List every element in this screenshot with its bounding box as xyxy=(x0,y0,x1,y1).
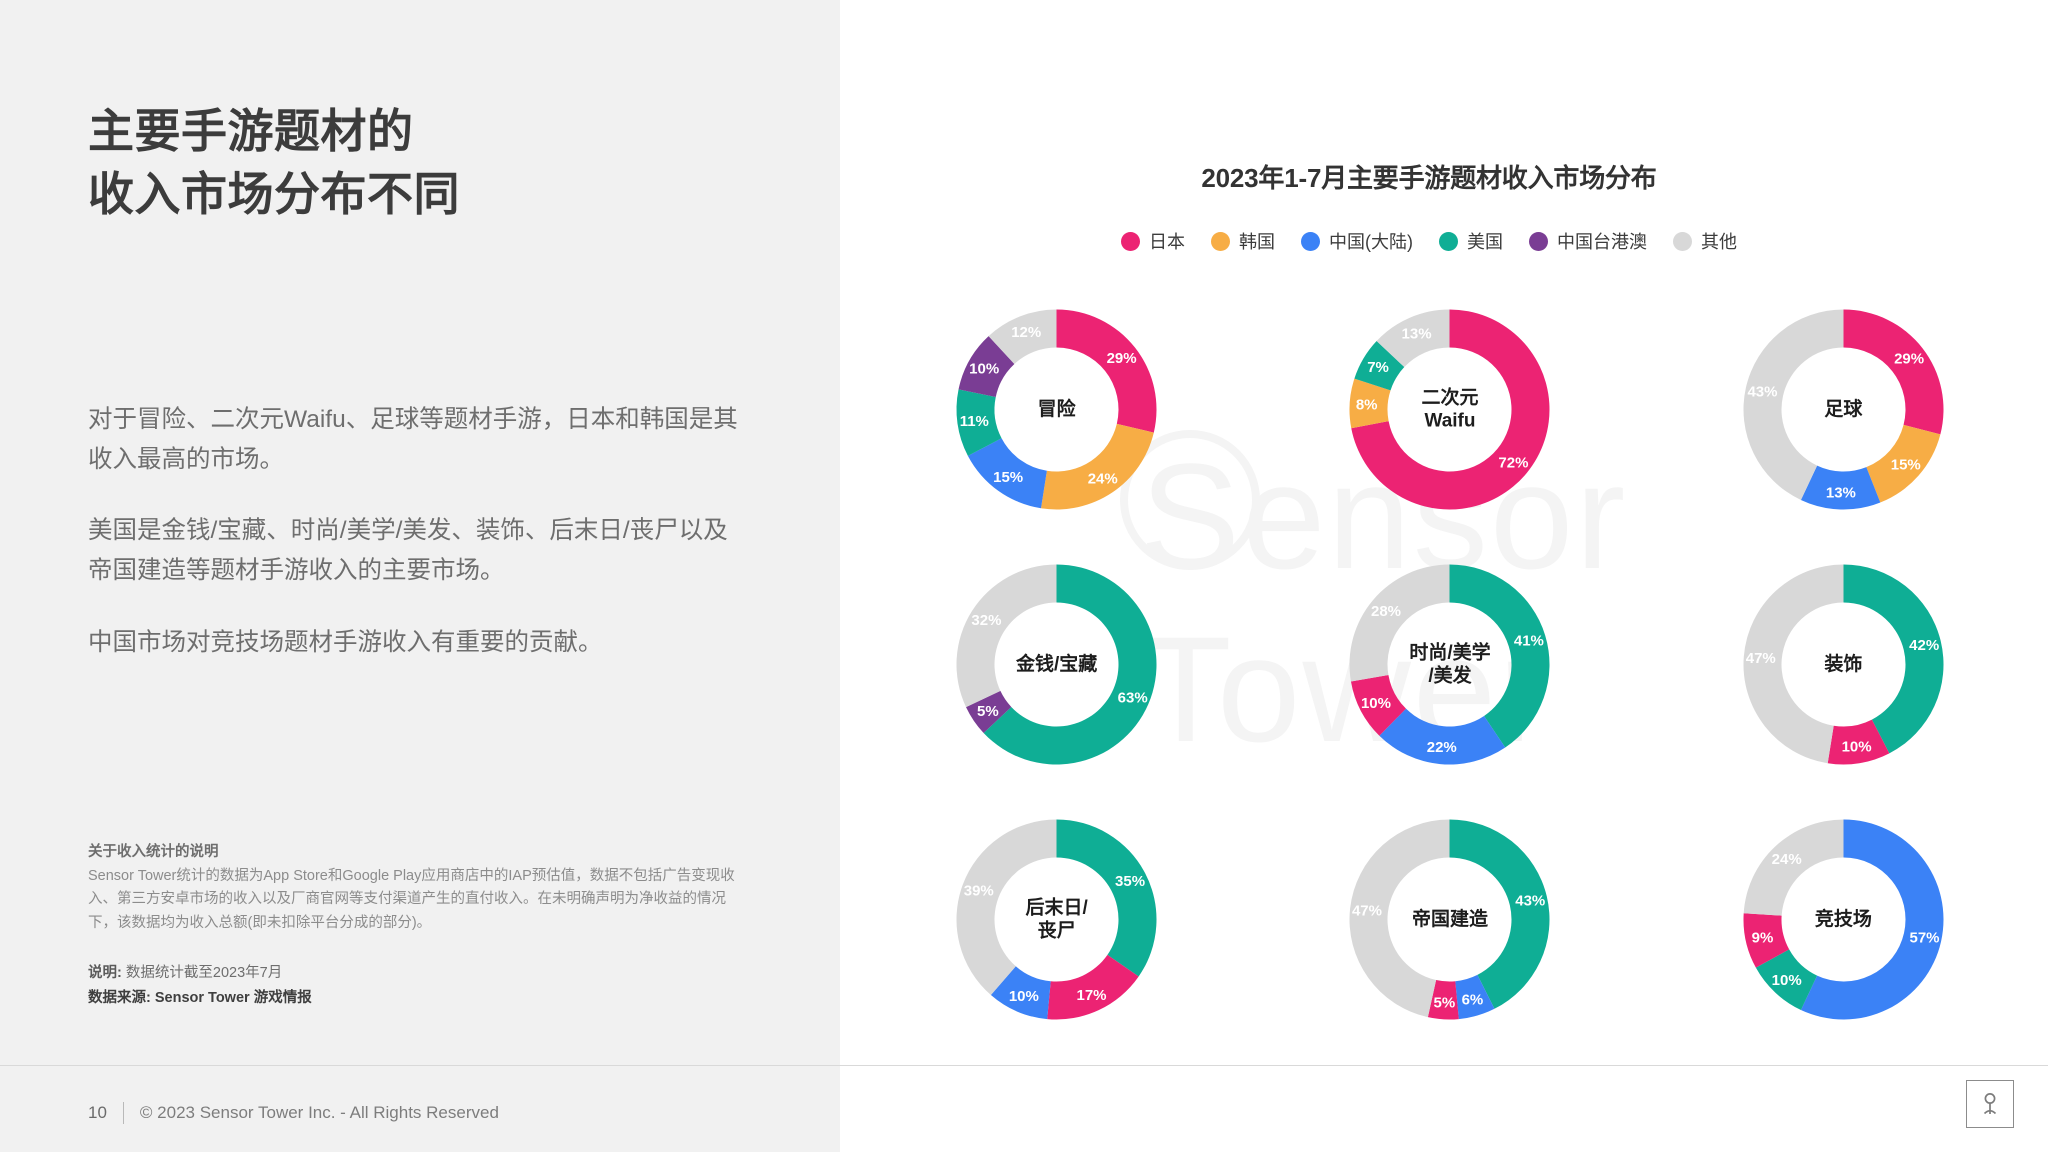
donut-chart-4: 63%5%32%金钱/宝藏 xyxy=(860,537,1253,792)
donut-slice[interactable] xyxy=(957,565,1057,708)
donut-chart-9: 57%10%9%24%竞技场 xyxy=(1647,792,2040,1047)
chart-title: 2023年1-7月主要手游题材收入市场分布 xyxy=(840,158,2048,195)
slice-value-label: 72% xyxy=(1499,454,1529,471)
donut-chart-5: 41%22%10%28%时尚/美学/美发 xyxy=(1253,537,1646,792)
legend-item[interactable]: 美国 xyxy=(1439,228,1503,254)
donut-chart-6: 42%10%47%装饰 xyxy=(1647,537,2040,792)
slice-value-label: 57% xyxy=(1909,930,1939,947)
legend-label: 日本 xyxy=(1149,228,1185,254)
slice-value-label: 32% xyxy=(972,612,1002,629)
donut-slice[interactable] xyxy=(1057,310,1157,433)
slice-value-label: 13% xyxy=(1402,325,1432,342)
body-copy: 对于冒险、二次元Waifu、足球等题材手游，日本和韩国是其收入最高的市场。 美国… xyxy=(88,400,748,662)
legend-label: 中国台港澳 xyxy=(1557,228,1647,254)
slice-value-label: 5% xyxy=(1434,994,1456,1011)
slice-value-label: 8% xyxy=(1356,396,1378,413)
footer-divider xyxy=(0,1065,2048,1066)
donut-chart-2: 72%8%7%13%二次元Waifu xyxy=(1253,282,1646,537)
donut-wrap: 42%10%47%装饰 xyxy=(1736,557,1951,772)
slice-value-label: 41% xyxy=(1514,632,1544,649)
donut-chart-1: 29%24%15%11%10%12%冒险 xyxy=(860,282,1253,537)
slice-value-label: 17% xyxy=(1077,987,1107,1004)
legend-swatch-icon xyxy=(1121,232,1140,251)
donut-slice[interactable] xyxy=(1843,310,1943,435)
donut-wrap: 29%24%15%11%10%12%冒险 xyxy=(949,302,1164,517)
donut-slice[interactable] xyxy=(1350,565,1450,682)
slice-value-label: 10% xyxy=(969,361,999,378)
notes-block: 关于收入统计的说明 Sensor Tower统计的数据为App Store和Go… xyxy=(88,840,738,1011)
body-paragraph-2: 美国是金钱/宝藏、时尚/美学/美发、装饰、后末日/丧尸以及帝国建造等题材手游收入… xyxy=(88,511,748,590)
chart-panel: Sensor Tower 2023年1-7月主要手游题材收入市场分布 日本韩国中… xyxy=(840,0,2048,1152)
legend-label: 韩国 xyxy=(1239,228,1275,254)
legend-swatch-icon xyxy=(1211,232,1230,251)
slice-value-label: 22% xyxy=(1427,739,1457,756)
legend-swatch-icon xyxy=(1301,232,1320,251)
legend-item[interactable]: 其他 xyxy=(1673,228,1737,254)
body-paragraph-3: 中国市场对竞技场题材手游收入有重要的贡献。 xyxy=(88,623,748,663)
headline-line-2: 收入市场分布不同 xyxy=(88,163,748,226)
sensor-tower-logo-icon xyxy=(1966,1080,2014,1128)
slice-value-label: 13% xyxy=(1826,484,1856,501)
slice-value-label: 5% xyxy=(977,703,999,720)
legend-label: 其他 xyxy=(1701,228,1737,254)
slice-value-label: 10% xyxy=(1771,972,1801,989)
donut-wrap: 57%10%9%24%竞技场 xyxy=(1736,812,1951,1027)
footer-separator xyxy=(123,1102,124,1124)
notes-body: Sensor Tower统计的数据为App Store和Google Play应… xyxy=(88,865,738,935)
donut-wrap: 29%15%13%43%足球 xyxy=(1736,302,1951,517)
donut-chart-7: 35%17%10%39%后末日/丧尸 xyxy=(860,792,1253,1047)
headline-line-1: 主要手游题材的 xyxy=(88,100,748,163)
slice-value-label: 39% xyxy=(964,882,994,899)
donut-grid: 29%24%15%11%10%12%冒险72%8%7%13%二次元Waifu29… xyxy=(860,282,2040,1047)
left-panel: 主要手游题材的 收入市场分布不同 对于冒险、二次元Waifu、足球等题材手游，日… xyxy=(0,0,840,1152)
legend-swatch-icon xyxy=(1529,232,1548,251)
notes-note-value: 数据统计截至2023年7月 xyxy=(126,965,282,981)
footer: 10 © 2023 Sensor Tower Inc. - All Rights… xyxy=(88,1102,499,1124)
legend-item[interactable]: 中国(大陆) xyxy=(1301,228,1413,254)
slice-value-label: 10% xyxy=(1841,738,1871,755)
slice-value-label: 7% xyxy=(1368,359,1390,376)
legend-item[interactable]: 韩国 xyxy=(1211,228,1275,254)
legend-label: 美国 xyxy=(1467,228,1503,254)
legend-item[interactable]: 日本 xyxy=(1121,228,1185,254)
legend-item[interactable]: 中国台港澳 xyxy=(1529,228,1647,254)
slice-value-label: 43% xyxy=(1747,383,1777,400)
slice-value-label: 11% xyxy=(960,413,989,430)
legend-swatch-icon xyxy=(1439,232,1458,251)
slice-value-label: 24% xyxy=(1088,470,1118,487)
donut-wrap: 43%6%5%47%帝国建造 xyxy=(1342,812,1557,1027)
page-number: 10 xyxy=(88,1103,107,1123)
notes-meta: 说明: 数据统计截至2023年7月 数据来源: Sensor Tower 游戏情… xyxy=(88,961,738,1010)
donut-slice[interactable] xyxy=(1041,424,1154,510)
slice-value-label: 29% xyxy=(1107,350,1137,367)
slice-value-label: 63% xyxy=(1118,689,1148,706)
donut-wrap: 41%22%10%28%时尚/美学/美发 xyxy=(1342,557,1557,772)
legend-swatch-icon xyxy=(1673,232,1692,251)
notes-title: 关于收入统计的说明 xyxy=(88,840,738,861)
slice-value-label: 15% xyxy=(993,469,1023,486)
chart-legend: 日本韩国中国(大陆)美国中国台港澳其他 xyxy=(840,228,2048,254)
donut-chart-8: 43%6%5%47%帝国建造 xyxy=(1253,792,1646,1047)
donut-wrap: 63%5%32%金钱/宝藏 xyxy=(949,557,1164,772)
body-paragraph-1: 对于冒险、二次元Waifu、足球等题材手游，日本和韩国是其收入最高的市场。 xyxy=(88,400,748,479)
slice-value-label: 29% xyxy=(1894,351,1924,368)
legend-label: 中国(大陆) xyxy=(1329,228,1413,254)
donut-wrap: 35%17%10%39%后末日/丧尸 xyxy=(949,812,1164,1027)
donut-chart-3: 29%15%13%43%足球 xyxy=(1647,282,2040,537)
slice-value-label: 9% xyxy=(1751,930,1773,947)
slide-root: 主要手游题材的 收入市场分布不同 对于冒险、二次元Waifu、足球等题材手游，日… xyxy=(0,0,2048,1152)
donut-slice[interactable] xyxy=(957,820,1057,995)
footer-copyright: © 2023 Sensor Tower Inc. - All Rights Re… xyxy=(140,1103,499,1123)
slice-value-label: 12% xyxy=(1011,324,1041,341)
slice-value-label: 28% xyxy=(1371,603,1401,620)
slice-value-label: 10% xyxy=(1009,988,1039,1005)
slice-value-label: 42% xyxy=(1909,637,1939,654)
donut-slice[interactable] xyxy=(1450,565,1550,748)
slice-value-label: 24% xyxy=(1771,851,1801,868)
donut-wrap: 72%8%7%13%二次元Waifu xyxy=(1342,302,1557,517)
slice-value-label: 10% xyxy=(1361,695,1391,712)
slice-value-label: 47% xyxy=(1746,650,1776,667)
slice-value-label: 43% xyxy=(1516,892,1546,909)
slice-value-label: 6% xyxy=(1462,991,1484,1008)
notes-source: 数据来源: Sensor Tower 游戏情报 xyxy=(88,986,738,1011)
slice-value-label: 35% xyxy=(1115,873,1145,890)
slice-value-label: 15% xyxy=(1891,456,1921,473)
slice-value-label: 47% xyxy=(1352,902,1382,919)
notes-note-label: 说明: xyxy=(88,965,122,981)
page-title: 主要手游题材的 收入市场分布不同 xyxy=(88,100,748,227)
donut-slice[interactable] xyxy=(1057,820,1157,977)
notes-note-row: 说明: 数据统计截至2023年7月 xyxy=(88,961,738,986)
